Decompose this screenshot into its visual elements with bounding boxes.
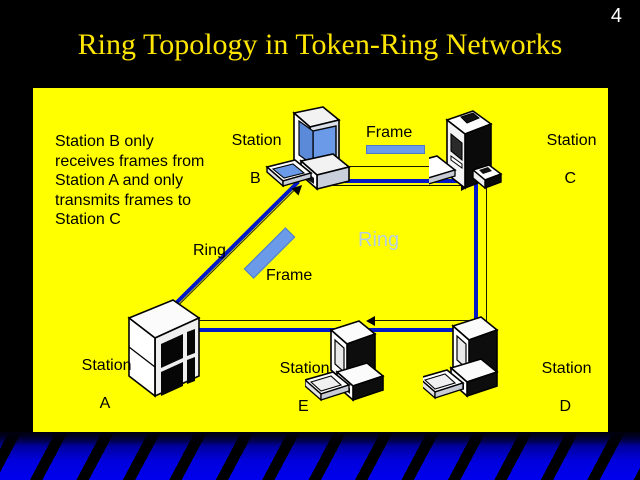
station-d-device-icon [423, 310, 523, 415]
station-a-label: Station A [55, 337, 129, 432]
station-e-letter: E [298, 398, 309, 415]
station-e-name: Station [280, 360, 330, 377]
frame-packet-bar-top [366, 145, 425, 154]
station-a-letter: A [100, 395, 111, 412]
station-b-name: Station [232, 132, 282, 149]
station-c-label: Station C [520, 112, 594, 207]
station-c-name: Station [547, 132, 597, 149]
station-b-letter: B [250, 170, 261, 187]
ring-label-left: Ring [193, 241, 226, 260]
ring-watermark-label: Ring [358, 229, 399, 251]
station-b-label: Station B [205, 112, 279, 207]
station-d-name: Station [542, 360, 592, 377]
station-a-name: Station [82, 357, 132, 374]
station-a-device-icon [121, 296, 221, 406]
diagram-canvas: Station B only receives frames from Stat… [33, 88, 608, 432]
station-d-letter: D [560, 398, 572, 415]
station-c-letter: C [565, 170, 577, 187]
bottom-banner [0, 432, 640, 480]
frame-label-top: Frame [366, 123, 412, 142]
station-d-label: Station D [515, 340, 589, 432]
slide-number: 4 [611, 6, 622, 26]
explanatory-note: Station B only receives frames from Stat… [55, 132, 205, 230]
station-e-label: Station E [253, 340, 327, 432]
frame-label-diagonal: Frame [266, 266, 312, 285]
banner-top-shadow [0, 432, 640, 446]
slide-canvas: 4 Ring Topology in Token-Ring Networks S… [0, 0, 640, 480]
page-title: Ring Topology in Token-Ring Networks [0, 28, 640, 62]
